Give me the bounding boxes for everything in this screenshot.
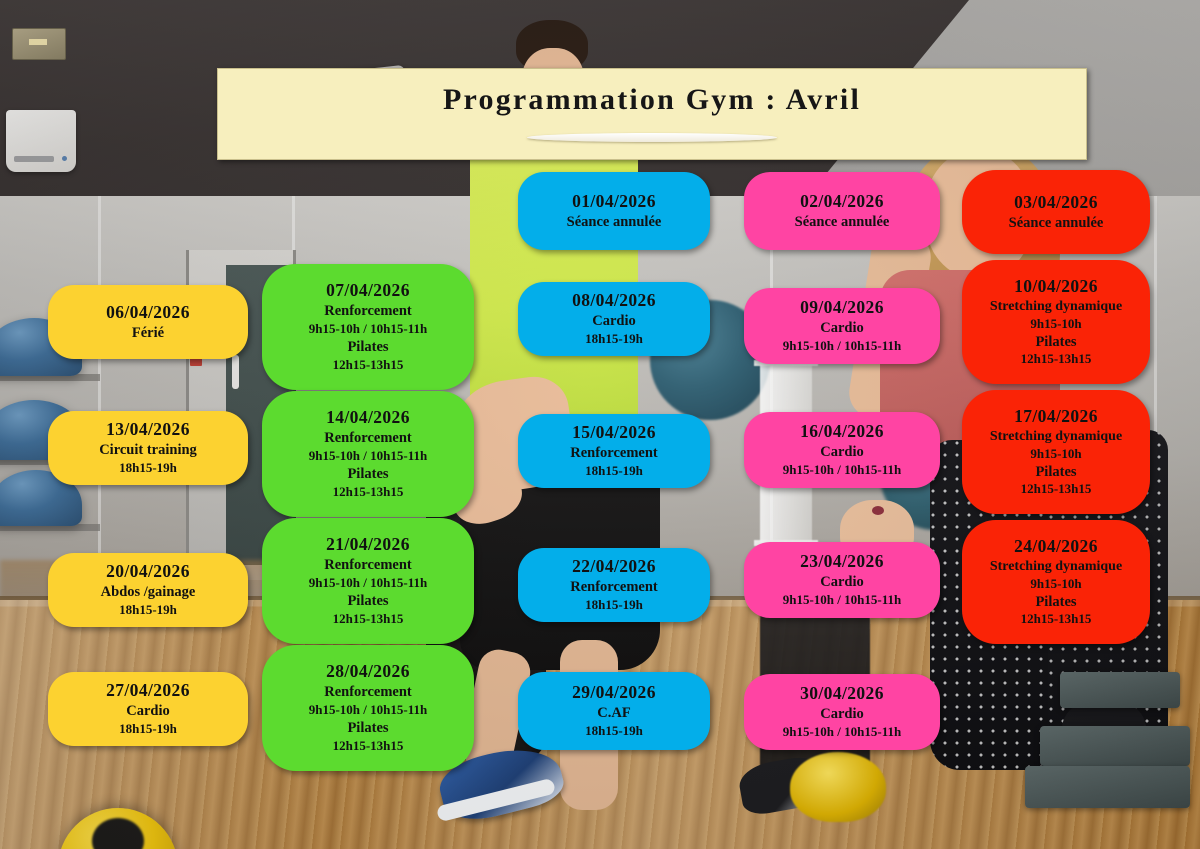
schedule-card[interactable]: 03/04/2026Séance annulée [962,170,1150,254]
card-activity: C.AF [524,704,704,723]
card-activity: Cardio [54,702,242,721]
card-activity: Cardio [750,573,934,592]
card-activity: Renforcement [268,429,468,448]
card-date: 03/04/2026 [968,192,1144,214]
card-time: 9h15-10h [968,316,1144,333]
card-activity: Renforcement [268,302,468,321]
card-time: 12h15-13h15 [268,357,468,374]
schedule-card[interactable]: 07/04/2026Renforcement9h15-10h / 10h15-1… [262,264,474,390]
card-time: 18h15-19h [54,721,242,738]
card-time: 18h15-19h [54,460,242,477]
schedule-card[interactable]: 22/04/2026Renforcement18h15-19h [518,548,710,622]
card-date: 07/04/2026 [268,280,468,302]
schedule-card[interactable]: 14/04/2026Renforcement9h15-10h / 10h15-1… [262,391,474,517]
card-activity: Cardio [750,443,934,462]
schedule-card[interactable]: 01/04/2026Séance annulée [518,172,710,250]
card-time: 12h15-13h15 [268,738,468,755]
card-time: 9h15-10h / 10h15-11h [268,575,468,592]
card-date: 24/04/2026 [968,536,1144,558]
card-time: 9h15-10h [968,446,1144,463]
card-date: 08/04/2026 [524,290,704,312]
schedule-card[interactable]: 06/04/2026Férié [48,285,248,359]
card-time: 12h15-13h15 [968,351,1144,368]
card-date: 10/04/2026 [968,276,1144,298]
card-time: 18h15-19h [524,463,704,480]
card-time: 9h15-10h / 10h15-11h [268,702,468,719]
card-activity: Pilates [268,465,468,484]
card-activity: Cardio [750,319,934,338]
card-time: 12h15-13h15 [968,481,1144,498]
decorative-underline [527,133,777,142]
page-title: Programmation Gym : Avril [218,83,1086,117]
card-activity: Cardio [750,705,934,724]
schedule-card[interactable]: 29/04/2026C.AF18h15-19h [518,672,710,750]
card-activity: Renforcement [524,578,704,597]
card-time: 9h15-10h / 10h15-11h [750,338,934,355]
card-activity: Abdos /gainage [54,583,242,602]
card-date: 20/04/2026 [54,561,242,583]
schedule-card[interactable]: 13/04/2026Circuit training18h15-19h [48,411,248,485]
card-activity: Pilates [268,338,468,357]
card-date: 02/04/2026 [750,191,934,213]
card-activity: Férié [54,324,242,343]
card-time: 9h15-10h / 10h15-11h [750,592,934,609]
card-date: 23/04/2026 [750,551,934,573]
schedule-card[interactable]: 20/04/2026Abdos /gainage18h15-19h [48,553,248,627]
schedule-card[interactable]: 02/04/2026Séance annulée [744,172,940,250]
card-date: 21/04/2026 [268,534,468,556]
card-date: 15/04/2026 [524,422,704,444]
schedule-card[interactable]: 10/04/2026Stretching dynamique9h15-10hPi… [962,260,1150,384]
card-activity: Stretching dynamique [968,558,1144,576]
card-date: 14/04/2026 [268,407,468,429]
card-date: 28/04/2026 [268,661,468,683]
schedule-card[interactable]: 08/04/2026Cardio18h15-19h [518,282,710,356]
card-date: 16/04/2026 [750,421,934,443]
card-date: 17/04/2026 [968,406,1144,428]
card-activity: Renforcement [268,683,468,702]
card-activity: Pilates [268,719,468,738]
title-banner: Programmation Gym : Avril [217,68,1087,160]
card-activity: Séance annulée [750,213,934,232]
schedule-card[interactable]: 30/04/2026Cardio9h15-10h / 10h15-11h [744,674,940,750]
card-time: 9h15-10h / 10h15-11h [750,724,934,741]
card-activity: Séance annulée [524,213,704,232]
card-activity: Cardio [524,312,704,331]
card-activity: Pilates [968,463,1144,482]
card-date: 01/04/2026 [524,191,704,213]
schedule-card[interactable]: 27/04/2026Cardio18h15-19h [48,672,248,746]
card-time: 18h15-19h [524,331,704,348]
card-activity: Stretching dynamique [968,428,1144,446]
card-date: 29/04/2026 [524,682,704,704]
card-activity: Circuit training [54,441,242,460]
card-time: 18h15-19h [524,597,704,614]
schedule-card[interactable]: 09/04/2026Cardio9h15-10h / 10h15-11h [744,288,940,364]
schedule-card[interactable]: 28/04/2026Renforcement9h15-10h / 10h15-1… [262,645,474,771]
schedule-card[interactable]: 23/04/2026Cardio9h15-10h / 10h15-11h [744,542,940,618]
schedule-card[interactable]: 15/04/2026Renforcement18h15-19h [518,414,710,488]
card-date: 27/04/2026 [54,680,242,702]
card-date: 06/04/2026 [54,302,242,324]
card-activity: Pilates [968,593,1144,612]
card-activity: Renforcement [524,444,704,463]
card-date: 09/04/2026 [750,297,934,319]
schedule-card[interactable]: 16/04/2026Cardio9h15-10h / 10h15-11h [744,412,940,488]
card-time: 9h15-10h / 10h15-11h [268,321,468,338]
card-date: 22/04/2026 [524,556,704,578]
card-activity: Pilates [268,592,468,611]
card-activity: Stretching dynamique [968,298,1144,316]
card-activity: Séance annulée [968,214,1144,233]
card-time: 18h15-19h [524,723,704,740]
schedule-card[interactable]: 24/04/2026Stretching dynamique9h15-10hPi… [962,520,1150,644]
card-time: 12h15-13h15 [268,484,468,501]
card-time: 9h15-10h / 10h15-11h [750,462,934,479]
card-time: 12h15-13h15 [968,611,1144,628]
card-activity: Renforcement [268,556,468,575]
schedule-card[interactable]: 21/04/2026Renforcement9h15-10h / 10h15-1… [262,518,474,644]
card-time: 18h15-19h [54,602,242,619]
card-time: 12h15-13h15 [268,611,468,628]
card-time: 9h15-10h / 10h15-11h [268,448,468,465]
card-activity: Pilates [968,333,1144,352]
card-date: 30/04/2026 [750,683,934,705]
schedule-card[interactable]: 17/04/2026Stretching dynamique9h15-10hPi… [962,390,1150,514]
card-time: 9h15-10h [968,576,1144,593]
card-date: 13/04/2026 [54,419,242,441]
